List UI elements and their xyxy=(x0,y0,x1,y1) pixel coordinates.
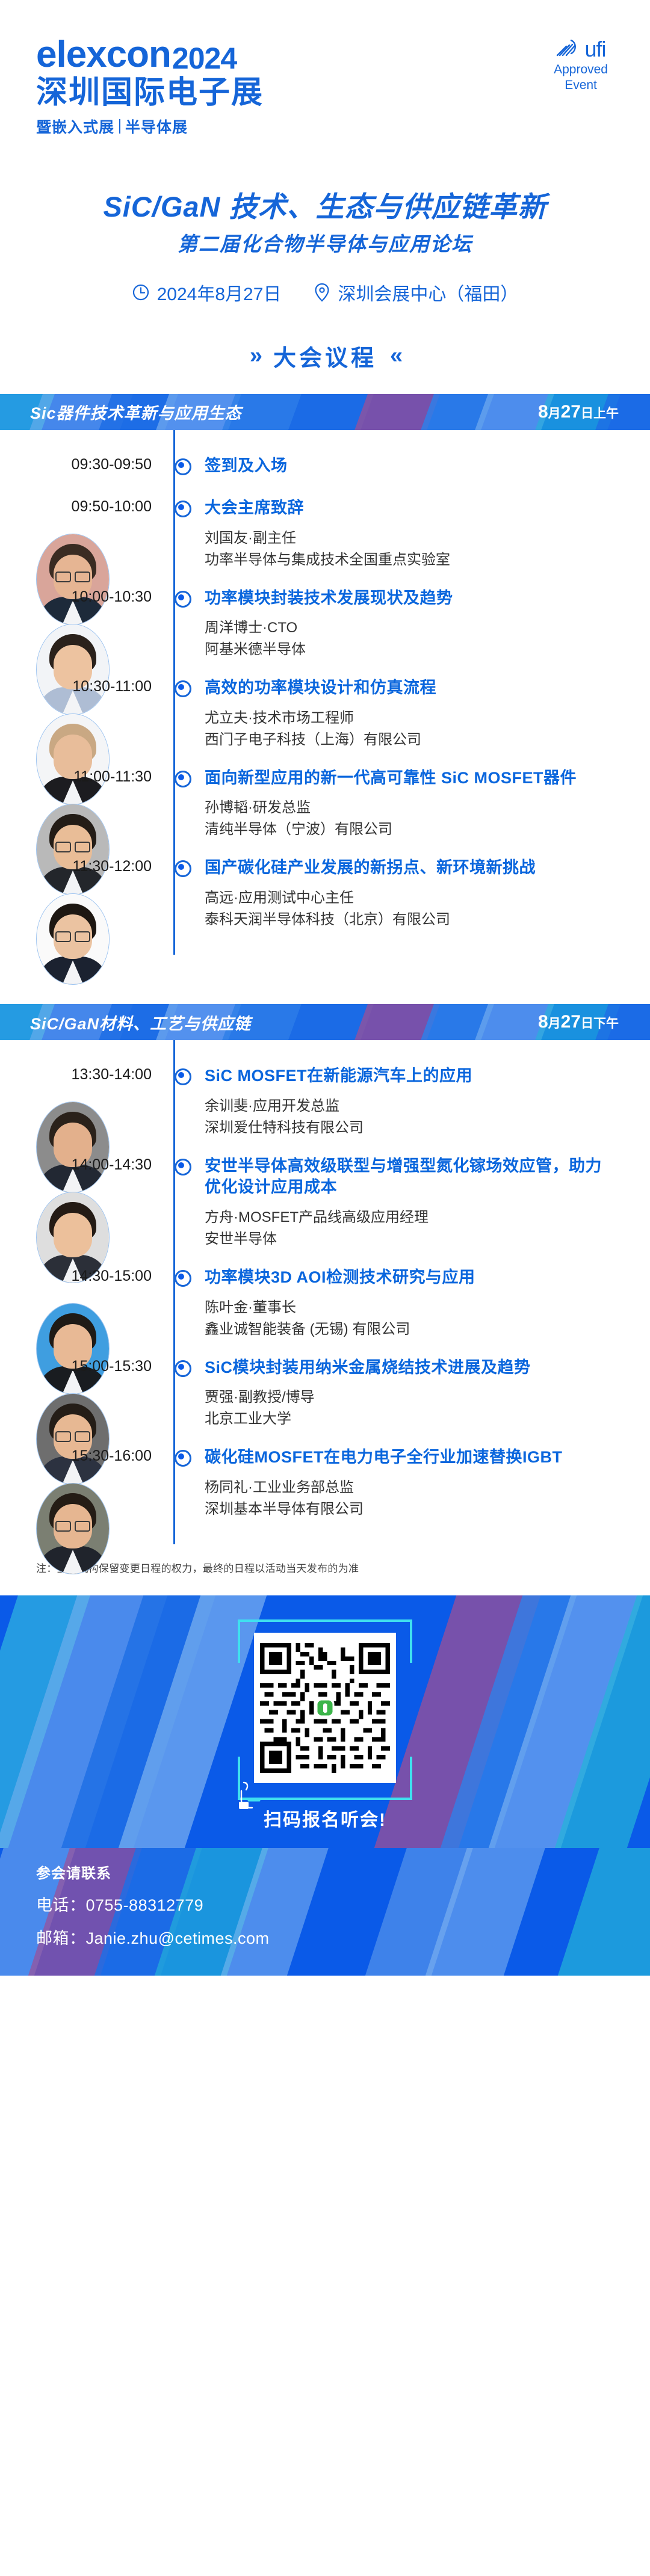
agenda-content: SiC MOSFET在新能源汽车上的应用余训斐·应用开发总监深圳爱仕特科技有限公… xyxy=(205,1065,650,1139)
agenda-sessions: Sic器件技术革新与应用生态8月27日上午09:30-09:50签到及入场09:… xyxy=(0,394,650,1544)
agenda-time: 11:30-12:00 xyxy=(0,857,161,875)
agenda-talk-title: 高效的功率模块设计和仿真流程 xyxy=(205,677,608,699)
logo-chinese-name: 深圳国际电子展 xyxy=(36,77,264,108)
session-date-day-num: 27 xyxy=(561,1012,581,1032)
ufi-approved-event-logo: ufi Approved Event xyxy=(554,37,608,94)
agenda-speaker-name: 尤立夫·技术市场工程师 xyxy=(205,707,608,729)
qr-cta-label: 扫码报名听会! xyxy=(0,1805,650,1831)
agenda-row[interactable]: 14:30-15:00功率模块3D AOI检测技术研究与应用陈叶金·董事长鑫业诚… xyxy=(0,1260,650,1350)
location-pin-icon xyxy=(314,283,330,302)
agenda-time: 11:00-11:30 xyxy=(0,768,161,786)
agenda-row[interactable]: 10:30-11:00高效的功率模块设计和仿真流程尤立夫·技术市场工程师西门子电… xyxy=(0,670,650,760)
agenda-heading: » 大会议程 « xyxy=(0,339,650,372)
forum-meta-row: 2024年8月27日 深圳会展中心（福田） xyxy=(0,279,650,306)
agenda-speaker-name: 陈叶金·董事长 xyxy=(205,1297,608,1319)
agenda-speaker-org: 泰科天润半导体科技（北京）有限公司 xyxy=(205,909,608,931)
contact-panel: 参会请联系 电话：0755-88312779 邮箱：Janie.zhu@ceti… xyxy=(0,1848,650,1976)
timeline-marker-cell xyxy=(161,455,205,475)
agenda-row[interactable]: 10:00-10:30功率模块封装技术发展现状及趋势周洋博士·CTO阿基米德半导… xyxy=(0,581,650,671)
session-title: SiC/GaN材料、工艺与供应链 xyxy=(30,1011,251,1034)
agenda-content: 签到及入场 xyxy=(205,455,650,477)
agenda-speaker-org: 功率半导体与集成技术全国重点实验室 xyxy=(205,549,608,571)
timeline-dot-icon xyxy=(175,860,191,877)
agenda-speaker-name: 刘国友·副主任 xyxy=(205,528,608,549)
agenda-content: 国产碳化硅产业发展的新拐点、新环境新挑战高远·应用测试中心主任泰科天润半导体科技… xyxy=(205,857,650,931)
elexcon-logo: elexcon 2024 深圳国际电子展 暨嵌入式展 半导体展 xyxy=(36,36,264,137)
agenda-speaker-org: 安世半导体 xyxy=(205,1228,608,1250)
qr-scan-frame xyxy=(238,1619,412,1800)
timeline-marker-cell xyxy=(161,588,205,608)
timeline-dot-icon xyxy=(175,1068,191,1085)
timeline-dot-icon xyxy=(175,1159,191,1176)
agenda-content: 安世半导体高效级联型与增强型氮化镓场效应管，助力优化设计应用成本方舟·MOSFE… xyxy=(205,1156,650,1250)
agenda-time: 09:30-09:50 xyxy=(0,455,161,473)
agenda-content: 功率模块封装技术发展现状及趋势周洋博士·CTO阿基米德半导体 xyxy=(205,588,650,661)
agenda-speaker-name: 贾强·副教授/博导 xyxy=(205,1387,608,1408)
agenda-content: 碳化硅MOSFET在电力电子全行业加速替换IGBT杨同礼·工业业务部总监深圳基本… xyxy=(205,1447,650,1520)
forum-date: 2024年8月27日 xyxy=(132,279,282,306)
agenda-time: 14:30-15:00 xyxy=(0,1267,161,1285)
poster-page: elexcon 2024 深圳国际电子展 暨嵌入式展 半导体展 xyxy=(0,0,650,1976)
contact-phone[interactable]: 电话：0755-88312779 xyxy=(36,1892,650,1915)
agenda-speaker-name: 高远·应用测试中心主任 xyxy=(205,887,608,909)
forum-date-text: 2024年8月27日 xyxy=(157,279,282,306)
session-header-bar: SiC/GaN材料、工艺与供应链8月27日下午 xyxy=(0,1004,650,1040)
contact-title: 参会请联系 xyxy=(36,1861,650,1882)
forum-sub-title: 第二届化合物半导体与应用论坛 xyxy=(0,233,650,255)
session-date-month-unit: 月 xyxy=(548,1014,561,1032)
agenda-row[interactable]: 14:00-14:30安世半导体高效级联型与增强型氮化镓场效应管，助力优化设计应… xyxy=(0,1148,650,1260)
timeline-marker-cell xyxy=(161,857,205,877)
agenda-talk-title: SiC模块封装用纳米金属烧结技术进展及趋势 xyxy=(205,1357,608,1379)
agenda-row[interactable]: 09:30-09:50签到及入场 xyxy=(0,448,650,490)
agenda-talk-title: 功率模块封装技术发展现状及趋势 xyxy=(205,588,608,609)
timeline-dot-icon xyxy=(175,1270,191,1287)
timeline-marker-cell xyxy=(161,1267,205,1287)
agenda-speaker-name: 余训斐·应用开发总监 xyxy=(205,1095,608,1117)
agenda-speaker-org: 阿基米德半导体 xyxy=(205,639,608,661)
session-date: 8月27日下午 xyxy=(538,1012,619,1032)
agenda-content: 大会主席致辞刘国友·副主任功率半导体与集成技术全国重点实验室 xyxy=(205,498,650,571)
session-date-suffix: 日上午 xyxy=(581,404,619,422)
ufi-swoosh-icon xyxy=(556,37,584,61)
agenda-time: 13:30-14:00 xyxy=(0,1065,161,1083)
timeline-marker-cell xyxy=(161,1065,205,1085)
agenda-time: 14:00-14:30 xyxy=(0,1156,161,1174)
timeline-marker-cell xyxy=(161,768,205,787)
agenda-row[interactable]: 11:30-12:00国产碳化硅产业发展的新拐点、新环境新挑战高远·应用测试中心… xyxy=(0,850,650,940)
session-title: Sic器件技术革新与应用生态 xyxy=(30,400,242,424)
agenda-content: 高效的功率模块设计和仿真流程尤立夫·技术市场工程师西门子电子科技（上海）有限公司 xyxy=(205,677,650,751)
agenda-speaker-org: 清纯半导体（宁波）有限公司 xyxy=(205,819,608,840)
agenda-row[interactable]: 11:00-11:30面向新型应用的新一代高可靠性 SiC MOSFET器件孙博… xyxy=(0,760,650,851)
agenda-row[interactable]: 09:50-10:00大会主席致辞刘国友·副主任功率半导体与集成技术全国重点实验… xyxy=(0,490,650,581)
ufi-wordmark: ufi xyxy=(585,39,606,60)
agenda-row[interactable]: 15:30-16:00碳化硅MOSFET在电力电子全行业加速替换IGBT杨同礼·… xyxy=(0,1440,650,1530)
logo-wordmark: elexcon xyxy=(36,36,171,73)
agenda-talk-title: 功率模块3D AOI检测技术研究与应用 xyxy=(205,1267,608,1289)
agenda-talk-title: 碳化硅MOSFET在电力电子全行业加速替换IGBT xyxy=(205,1447,608,1468)
timeline-marker-cell xyxy=(161,498,205,517)
poster-header: elexcon 2024 深圳国际电子展 暨嵌入式展 半导体展 xyxy=(0,0,650,186)
qr-code-image xyxy=(260,1639,390,1777)
agenda-speaker-org: 西门子电子科技（上海）有限公司 xyxy=(205,729,608,751)
agenda-heading-label: 大会议程 xyxy=(273,339,377,372)
logo-sub-divider xyxy=(119,119,120,134)
session-date-day-num: 27 xyxy=(561,402,581,422)
ufi-approved-label: Approved xyxy=(554,62,608,78)
agenda-speaker-org: 深圳爱仕特科技有限公司 xyxy=(205,1117,608,1139)
agenda-time: 15:00-15:30 xyxy=(0,1357,161,1375)
agenda-speaker-name: 周洋博士·CTO xyxy=(205,617,608,639)
session-date: 8月27日上午 xyxy=(538,402,619,422)
session-header-bar: Sic器件技术革新与应用生态8月27日上午 xyxy=(0,394,650,430)
session-date-month-unit: 月 xyxy=(548,404,561,422)
agenda-speaker-name: 杨同礼·工业业务部总监 xyxy=(205,1477,608,1499)
speaker-avatar xyxy=(36,1483,110,1574)
timeline-marker-cell xyxy=(161,1156,205,1176)
agenda-speaker-name: 孙博韬·研发总监 xyxy=(205,797,608,819)
agenda-content: SiC模块封装用纳米金属烧结技术进展及趋势贾强·副教授/博导北京工业大学 xyxy=(205,1357,650,1431)
chevron-right-double-icon: » xyxy=(250,343,260,369)
agenda-disclaimer-note: 注：主办机构保留变更日程的权力，最终的日程以活动当天发布的为准 xyxy=(36,1560,650,1575)
timeline-dot-icon xyxy=(175,771,191,787)
timeline-marker-cell xyxy=(161,677,205,697)
agenda-content: 功率模块3D AOI检测技术研究与应用陈叶金·董事长鑫业诚智能装备 (无锡) 有… xyxy=(205,1267,650,1340)
agenda-time: 10:30-11:00 xyxy=(0,677,161,695)
forum-venue-text: 深圳会展中心（福田） xyxy=(338,279,518,306)
session-timeline: 09:30-09:50签到及入场09:50-10:00大会主席致辞刘国友·副主任… xyxy=(0,430,650,955)
timeline-dot-icon xyxy=(175,1360,191,1377)
agenda-time: 10:00-10:30 xyxy=(0,588,161,606)
forum-venue: 深圳会展中心（福田） xyxy=(314,279,518,306)
timeline-marker-cell xyxy=(161,1447,205,1467)
qr-code-icon[interactable] xyxy=(254,1633,396,1783)
forum-main-title: SiC/GaN 技术、生态与供应链革新 xyxy=(0,191,650,223)
agenda-talk-title: 大会主席致辞 xyxy=(205,498,608,519)
agenda-talk-title: 签到及入场 xyxy=(205,455,608,477)
agenda-speaker-org: 深圳基本半导体有限公司 xyxy=(205,1499,608,1520)
forum-title-block: SiC/GaN 技术、生态与供应链革新 第二届化合物半导体与应用论坛 2024年… xyxy=(0,186,650,306)
timeline-dot-icon xyxy=(175,1450,191,1467)
ufi-event-label: Event xyxy=(554,78,608,93)
logo-year: 2024 xyxy=(172,43,237,73)
timeline-dot-icon xyxy=(175,458,191,475)
agenda-talk-title: 安世半导体高效级联型与增强型氮化镓场效应管，助力优化设计应用成本 xyxy=(205,1156,608,1198)
session-timeline: 13:30-14:00SiC MOSFET在新能源汽车上的应用余训斐·应用开发总… xyxy=(0,1040,650,1544)
agenda-time: 15:30-16:00 xyxy=(0,1447,161,1465)
timeline-dot-icon xyxy=(175,680,191,697)
qr-registration-panel: 扫码报名听会! xyxy=(0,1595,650,1848)
speaker-avatar xyxy=(36,893,110,985)
session-date-month-num: 8 xyxy=(538,402,548,422)
session-date-month-num: 8 xyxy=(538,1012,548,1032)
agenda-speaker-org: 北京工业大学 xyxy=(205,1408,608,1430)
agenda-speaker-name: 方舟·MOSFET产品线高级应用经理 xyxy=(205,1207,608,1228)
logo-subtitle: 暨嵌入式展 半导体展 xyxy=(36,116,264,137)
timeline-dot-icon xyxy=(175,501,191,517)
chevron-left-double-icon: « xyxy=(390,343,400,369)
timeline-marker-cell xyxy=(161,1357,205,1377)
session-date-suffix: 日下午 xyxy=(581,1014,619,1032)
logo-sub-left: 暨嵌入式展 xyxy=(36,116,114,137)
agenda-time: 09:50-10:00 xyxy=(0,498,161,516)
logo-sub-right: 半导体展 xyxy=(125,116,188,137)
agenda-content: 面向新型应用的新一代高可靠性 SiC MOSFET器件孙博韬·研发总监清纯半导体… xyxy=(205,768,650,841)
agenda-row[interactable]: 15:00-15:30SiC模块封装用纳米金属烧结技术进展及趋势贾强·副教授/博… xyxy=(0,1350,650,1440)
agenda-talk-title: 面向新型应用的新一代高可靠性 SiC MOSFET器件 xyxy=(205,768,608,789)
contact-email[interactable]: 邮箱：Janie.zhu@cetimes.com xyxy=(36,1925,650,1949)
clock-icon xyxy=(132,283,150,301)
timeline-dot-icon xyxy=(175,591,191,608)
agenda-row[interactable]: 13:30-14:00SiC MOSFET在新能源汽车上的应用余训斐·应用开发总… xyxy=(0,1058,650,1148)
agenda-talk-title: 国产碳化硅产业发展的新拐点、新环境新挑战 xyxy=(205,857,608,879)
agenda-talk-title: SiC MOSFET在新能源汽车上的应用 xyxy=(205,1065,608,1087)
agenda-speaker-org: 鑫业诚智能装备 (无锡) 有限公司 xyxy=(205,1319,608,1340)
